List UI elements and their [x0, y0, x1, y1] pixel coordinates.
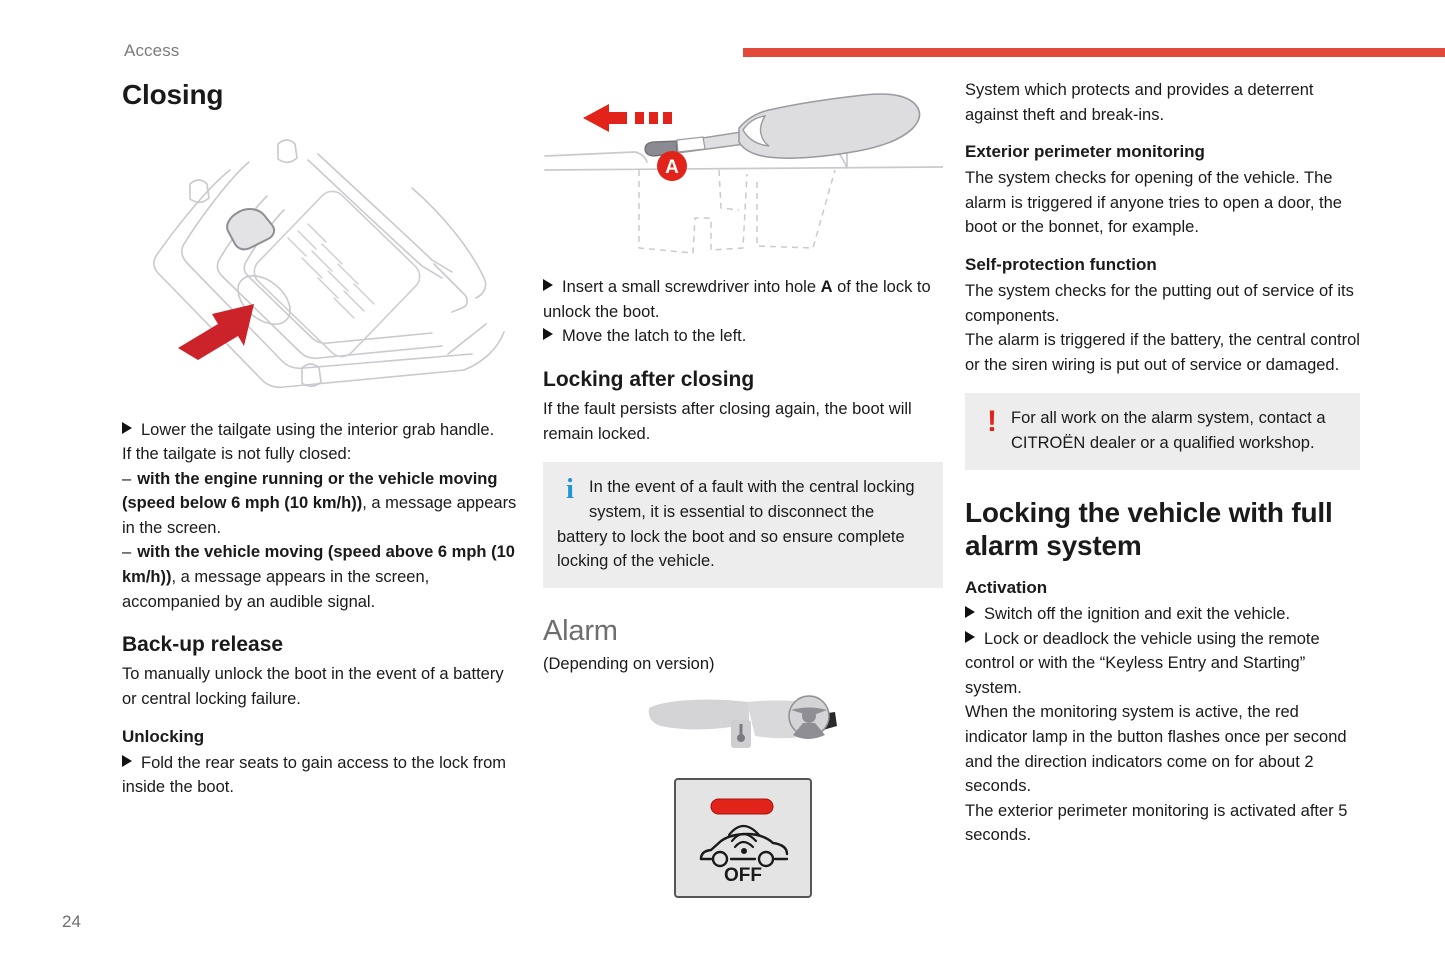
para-monitoring-active: When the monitoring system is active, th…: [965, 700, 1360, 798]
para-exterior-monitoring-delay: The exterior perimeter monitoring is act…: [965, 799, 1360, 848]
alarm-button-figure: OFF: [613, 777, 873, 899]
middle-column: A Insert a small screwdriver into hole A…: [543, 78, 943, 899]
bullet-triangle-icon: [965, 631, 975, 643]
alarm-button-off-label: OFF: [724, 865, 762, 886]
alarm-subtitle: (Depending on version): [543, 655, 943, 674]
heading-alarm: Alarm: [543, 614, 943, 649]
dash-marker: –: [122, 470, 131, 488]
heading-locking-after-closing: Locking after closing: [543, 367, 943, 393]
heading-activation: Activation: [965, 577, 1360, 599]
dash-item-vehicle-moving: –with the vehicle moving (speed above 6 …: [122, 540, 522, 614]
screwdriver-lock-figure: A: [543, 78, 943, 263]
info-icon: i: [557, 478, 583, 506]
bullet-insert-screwdriver: Insert a small screwdriver into hole A o…: [543, 275, 943, 324]
tailgate-interior-figure: [112, 118, 522, 408]
para-tailgate-not-closed: If the tailgate is not fully closed:: [122, 442, 522, 467]
right-column: System which protects and provides a det…: [965, 78, 1360, 848]
svg-text:A: A: [665, 157, 679, 178]
breadcrumb: Access: [124, 41, 179, 61]
bullet-lower-tailgate: Lower the tailgate using the interior gr…: [122, 418, 522, 443]
warning-callout-text: For all work on the alarm system, contac…: [1011, 409, 1326, 452]
dash-item-engine-running: –with the engine running or the vehicle …: [122, 467, 522, 541]
dashboard-location-figure: [543, 694, 943, 755]
left-column: Closing: [122, 78, 522, 800]
para-self-protection-1: The system checks for the putting out of…: [965, 279, 1360, 328]
para-exterior-perimeter-monitoring: The system checks for opening of the veh…: [965, 166, 1360, 240]
bullet-triangle-icon: [122, 755, 132, 767]
bullet-switch-off-ignition: Switch off the ignition and exit the veh…: [965, 602, 1360, 627]
warning-callout: ! For all work on the alarm system, cont…: [965, 393, 1360, 470]
red-arrow: [178, 304, 254, 360]
bullet-fold-rear-seats: Fold the rear seats to gain access to th…: [122, 751, 522, 800]
dash-marker: –: [122, 543, 131, 561]
header-accent-rule: [743, 48, 1445, 57]
para-back-up-release: To manually unlock the boot in the event…: [122, 662, 522, 711]
para-system-intro: System which protects and provides a det…: [965, 78, 1360, 127]
bullet-triangle-icon: [965, 606, 975, 618]
info-callout-text: In the event of a fault with the central…: [557, 478, 915, 570]
page-number: 24: [62, 912, 81, 932]
heading-exterior-perimeter-monitoring: Exterior perimeter monitoring: [965, 141, 1360, 163]
heading-locking-full-alarm: Locking the vehicle with full alarm syst…: [965, 496, 1360, 563]
bullet-lock-or-deadlock: Lock or deadlock the vehicle using the r…: [965, 627, 1360, 701]
heading-self-protection-function: Self-protection function: [965, 254, 1360, 276]
info-callout: i In the event of a fault with the centr…: [543, 462, 943, 588]
bullet-triangle-icon: [543, 328, 553, 340]
bullet-triangle-icon: [122, 422, 132, 434]
red-arrow-left: [583, 104, 672, 132]
heading-unlocking: Unlocking: [122, 726, 522, 748]
bullet-triangle-icon: [543, 279, 553, 291]
page-header: Access: [0, 0, 1445, 70]
callout-label-a: A: [657, 151, 687, 181]
heading-back-up-release: Back-up release: [122, 632, 522, 658]
warning-icon: !: [979, 409, 1005, 439]
bullet-move-latch: Move the latch to the left.: [543, 324, 943, 349]
para-locking-after-closing: If the fault persists after closing agai…: [543, 397, 943, 446]
page-title: Closing: [122, 78, 522, 112]
para-self-protection-2: The alarm is triggered if the battery, t…: [965, 328, 1360, 377]
